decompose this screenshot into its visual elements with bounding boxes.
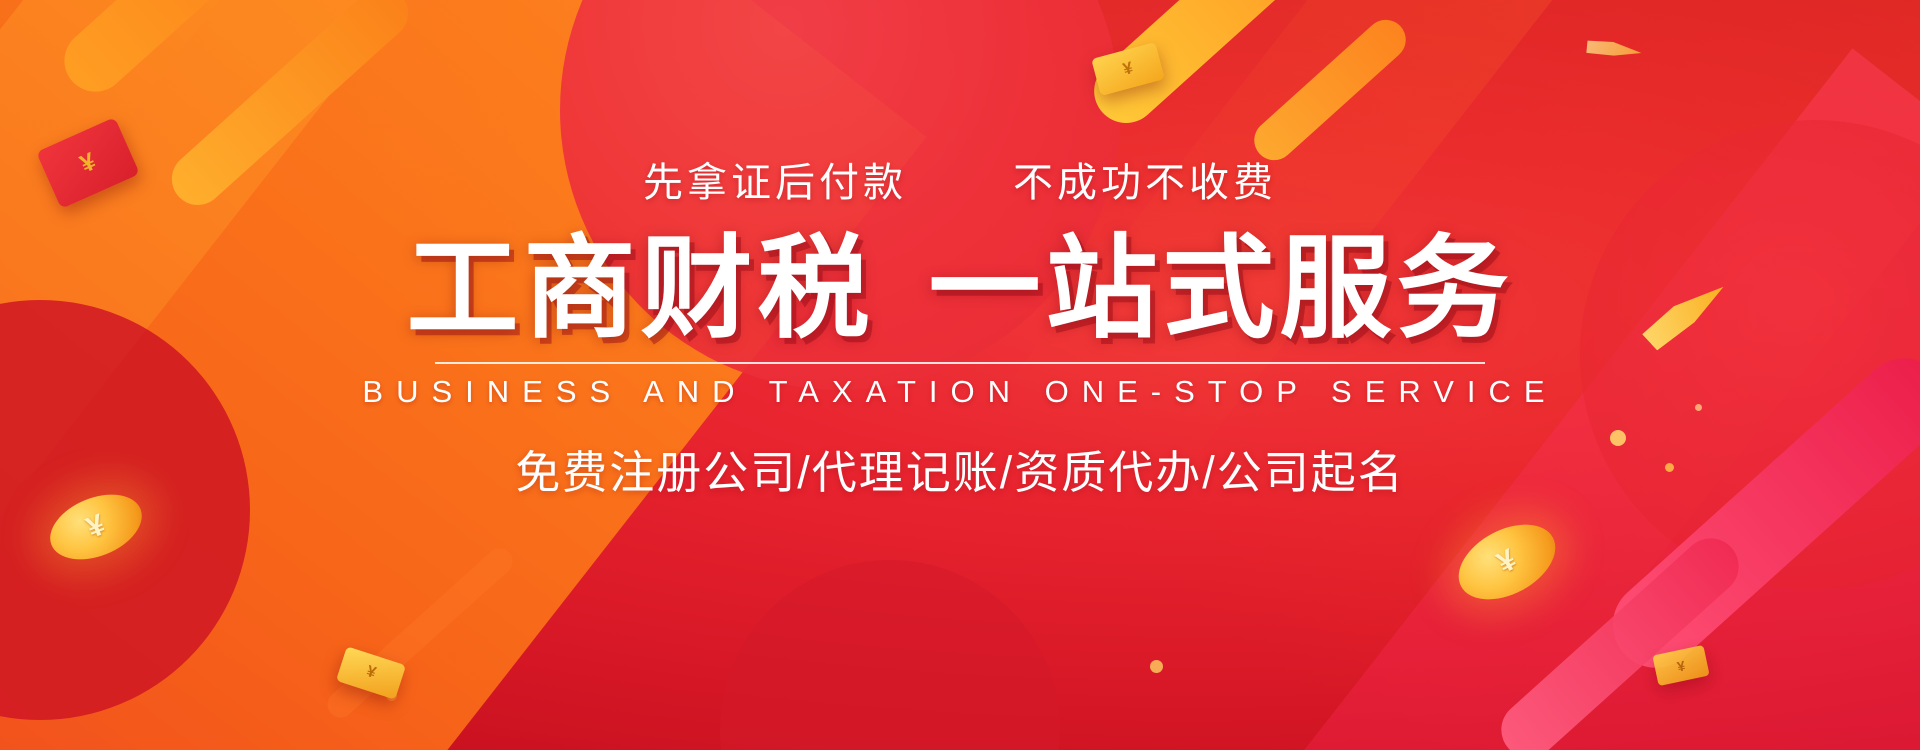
services-list: 免费注册公司/代理记账/资质代办/公司起名: [515, 436, 1405, 501]
headline-part-business-tax: 工商财税: [407, 230, 875, 348]
banner-content: 先拿证后付款 不成功不收费 工商财税 一站式服务 BUSINESS AND TA…: [0, 0, 1920, 750]
english-tagline: BUSINESS AND TAXATION ONE-STOP SERVICE: [362, 374, 1557, 410]
banner-headline: 工商财税 一站式服务: [407, 230, 1514, 348]
headline-part-one-stop: 一站式服务: [929, 230, 1514, 348]
banner-eyebrow: 先拿证后付款 不成功不收费: [643, 150, 1277, 208]
eyebrow-item-pay-after: 先拿证后付款: [643, 150, 907, 208]
promo-banner: ¥ ¥ ¥ ¥ ¥ ¥ 先拿证后付款 不成功不收费 工商财税 一站式服务 BUS…: [0, 0, 1920, 750]
divider-line: [435, 362, 1485, 364]
eyebrow-item-no-fee: 不成功不收费: [1013, 150, 1277, 208]
headline-divider: [435, 362, 1485, 364]
